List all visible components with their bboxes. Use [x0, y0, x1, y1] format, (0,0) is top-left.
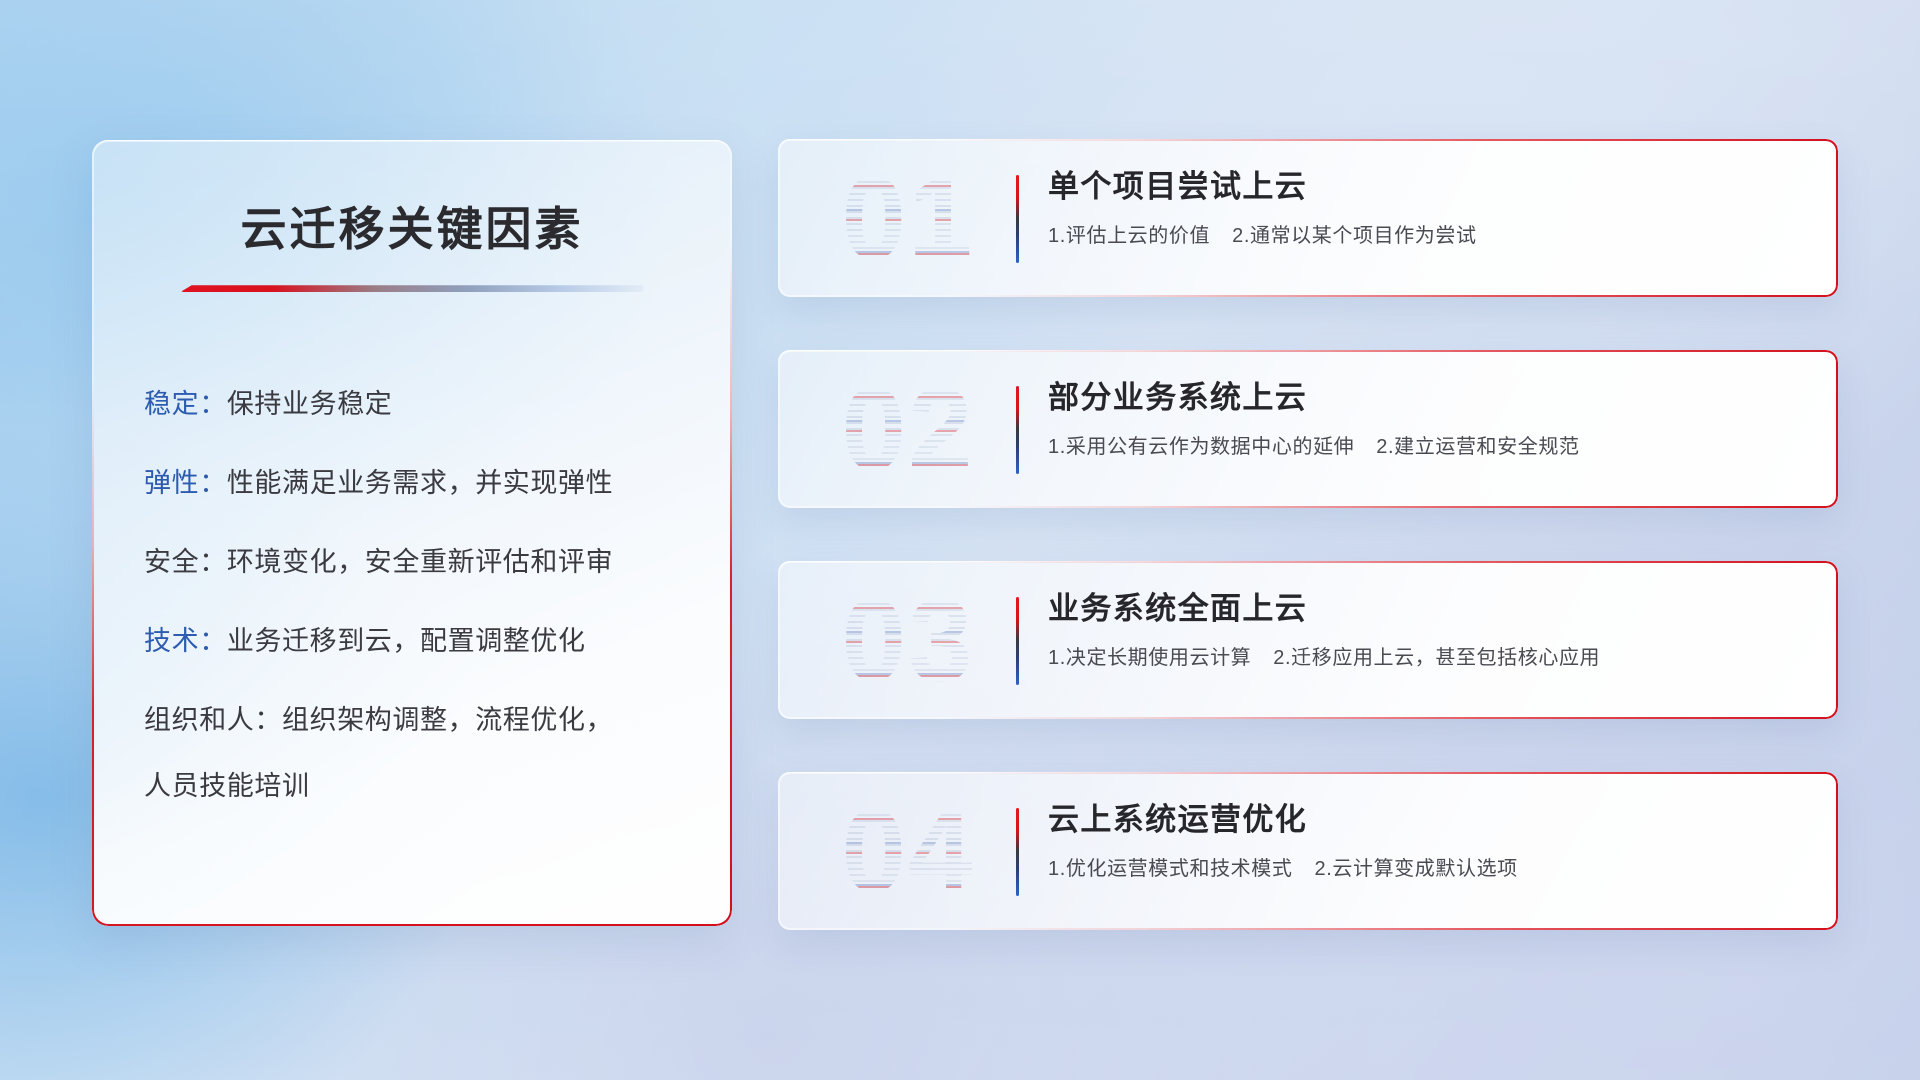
step-point-1: 1.采用公有云作为数据中心的延伸: [1048, 436, 1354, 458]
factor-value: 业务迁移到云，配置调整优化: [227, 626, 586, 656]
factor-item: 组织和人：组织架构调整，流程优化，: [144, 700, 680, 742]
migration-steps-list: 0101单个项目尝试上云1.评估上云的价值2.通常以某个项目作为尝试0202部分…: [778, 139, 1838, 983]
step-title: 部分业务系统上云: [1048, 378, 1808, 418]
step-point-2: 2.建立运营和安全规范: [1376, 436, 1579, 458]
step-divider-bar: [1016, 175, 1019, 263]
factor-key: 技术：: [144, 626, 227, 656]
factor-item: 稳定：保持业务稳定: [144, 384, 680, 426]
key-factors-card: 云迁移关键因素 稳定：保持业务稳定弹性：性能满足业务需求，并实现弹性安全：环境变…: [92, 140, 732, 926]
step-point-1: 1.评估上云的价值: [1048, 225, 1210, 247]
step-points: 1.评估上云的价值2.通常以某个项目作为尝试: [1048, 222, 1808, 250]
step-number-accent-lines: 01: [804, 151, 1012, 285]
factor-key: 组织和人：: [144, 705, 282, 735]
factor-key: 安全：: [144, 547, 227, 577]
step-card[interactable]: 0202部分业务系统上云1.采用公有云作为数据中心的延伸2.建立运营和安全规范: [778, 350, 1838, 508]
factor-item: 人员技能培训: [144, 766, 680, 808]
step-body: 云上系统运营优化1.优化运营模式和技术模式2.云计算变成默认选项: [1048, 800, 1808, 883]
step-point-1: 1.决定长期使用云计算: [1048, 647, 1251, 669]
title-underline-rule: [180, 285, 644, 292]
step-card[interactable]: 0404云上系统运营优化1.优化运营模式和技术模式2.云计算变成默认选项: [778, 772, 1838, 930]
factor-value: 性能满足业务需求，并实现弹性: [227, 468, 613, 498]
step-points: 1.优化运营模式和技术模式2.云计算变成默认选项: [1048, 855, 1808, 883]
step-point-1: 1.优化运营模式和技术模式: [1048, 858, 1292, 880]
step-divider-bar: [1016, 386, 1019, 474]
step-body: 单个项目尝试上云1.评估上云的价值2.通常以某个项目作为尝试: [1048, 167, 1808, 250]
step-body: 业务系统全面上云1.决定长期使用云计算2.迁移应用上云，甚至包括核心应用: [1048, 589, 1808, 672]
page-title: 云迁移关键因素: [144, 202, 680, 257]
step-points: 1.采用公有云作为数据中心的延伸2.建立运营和安全规范: [1048, 433, 1808, 461]
step-title: 单个项目尝试上云: [1048, 167, 1808, 207]
step-number-accent-lines: 03: [804, 573, 1012, 707]
factor-value: 组织架构调整，流程优化，: [282, 705, 613, 735]
step-number-accent-lines: 02: [804, 362, 1012, 496]
step-number-accent-lines: 04: [804, 784, 1012, 918]
factor-item: 安全：环境变化，安全重新评估和评审: [144, 542, 680, 584]
factor-key: 稳定：: [144, 389, 227, 419]
step-card[interactable]: 0101单个项目尝试上云1.评估上云的价值2.通常以某个项目作为尝试: [778, 139, 1838, 297]
step-divider-bar: [1016, 808, 1019, 896]
factor-list: 稳定：保持业务稳定弹性：性能满足业务需求，并实现弹性安全：环境变化，安全重新评估…: [144, 384, 680, 808]
factor-item: 技术：业务迁移到云，配置调整优化: [144, 621, 680, 663]
step-point-2: 2.通常以某个项目作为尝试: [1232, 225, 1476, 247]
step-title: 云上系统运营优化: [1048, 800, 1808, 840]
step-title: 业务系统全面上云: [1048, 589, 1808, 629]
factor-key: 弹性：: [144, 468, 227, 498]
step-points: 1.决定长期使用云计算2.迁移应用上云，甚至包括核心应用: [1048, 644, 1808, 672]
step-point-2: 2.迁移应用上云，甚至包括核心应用: [1273, 647, 1600, 669]
factor-item: 弹性：性能满足业务需求，并实现弹性: [144, 463, 680, 505]
step-divider-bar: [1016, 597, 1019, 685]
step-point-2: 2.云计算变成默认选项: [1314, 858, 1517, 880]
step-card[interactable]: 0303业务系统全面上云1.决定长期使用云计算2.迁移应用上云，甚至包括核心应用: [778, 561, 1838, 719]
factor-value: 保持业务稳定: [227, 389, 393, 419]
step-body: 部分业务系统上云1.采用公有云作为数据中心的延伸2.建立运营和安全规范: [1048, 378, 1808, 461]
factor-value: 环境变化，安全重新评估和评审: [227, 547, 613, 577]
factor-value: 人员技能培训: [144, 771, 310, 801]
